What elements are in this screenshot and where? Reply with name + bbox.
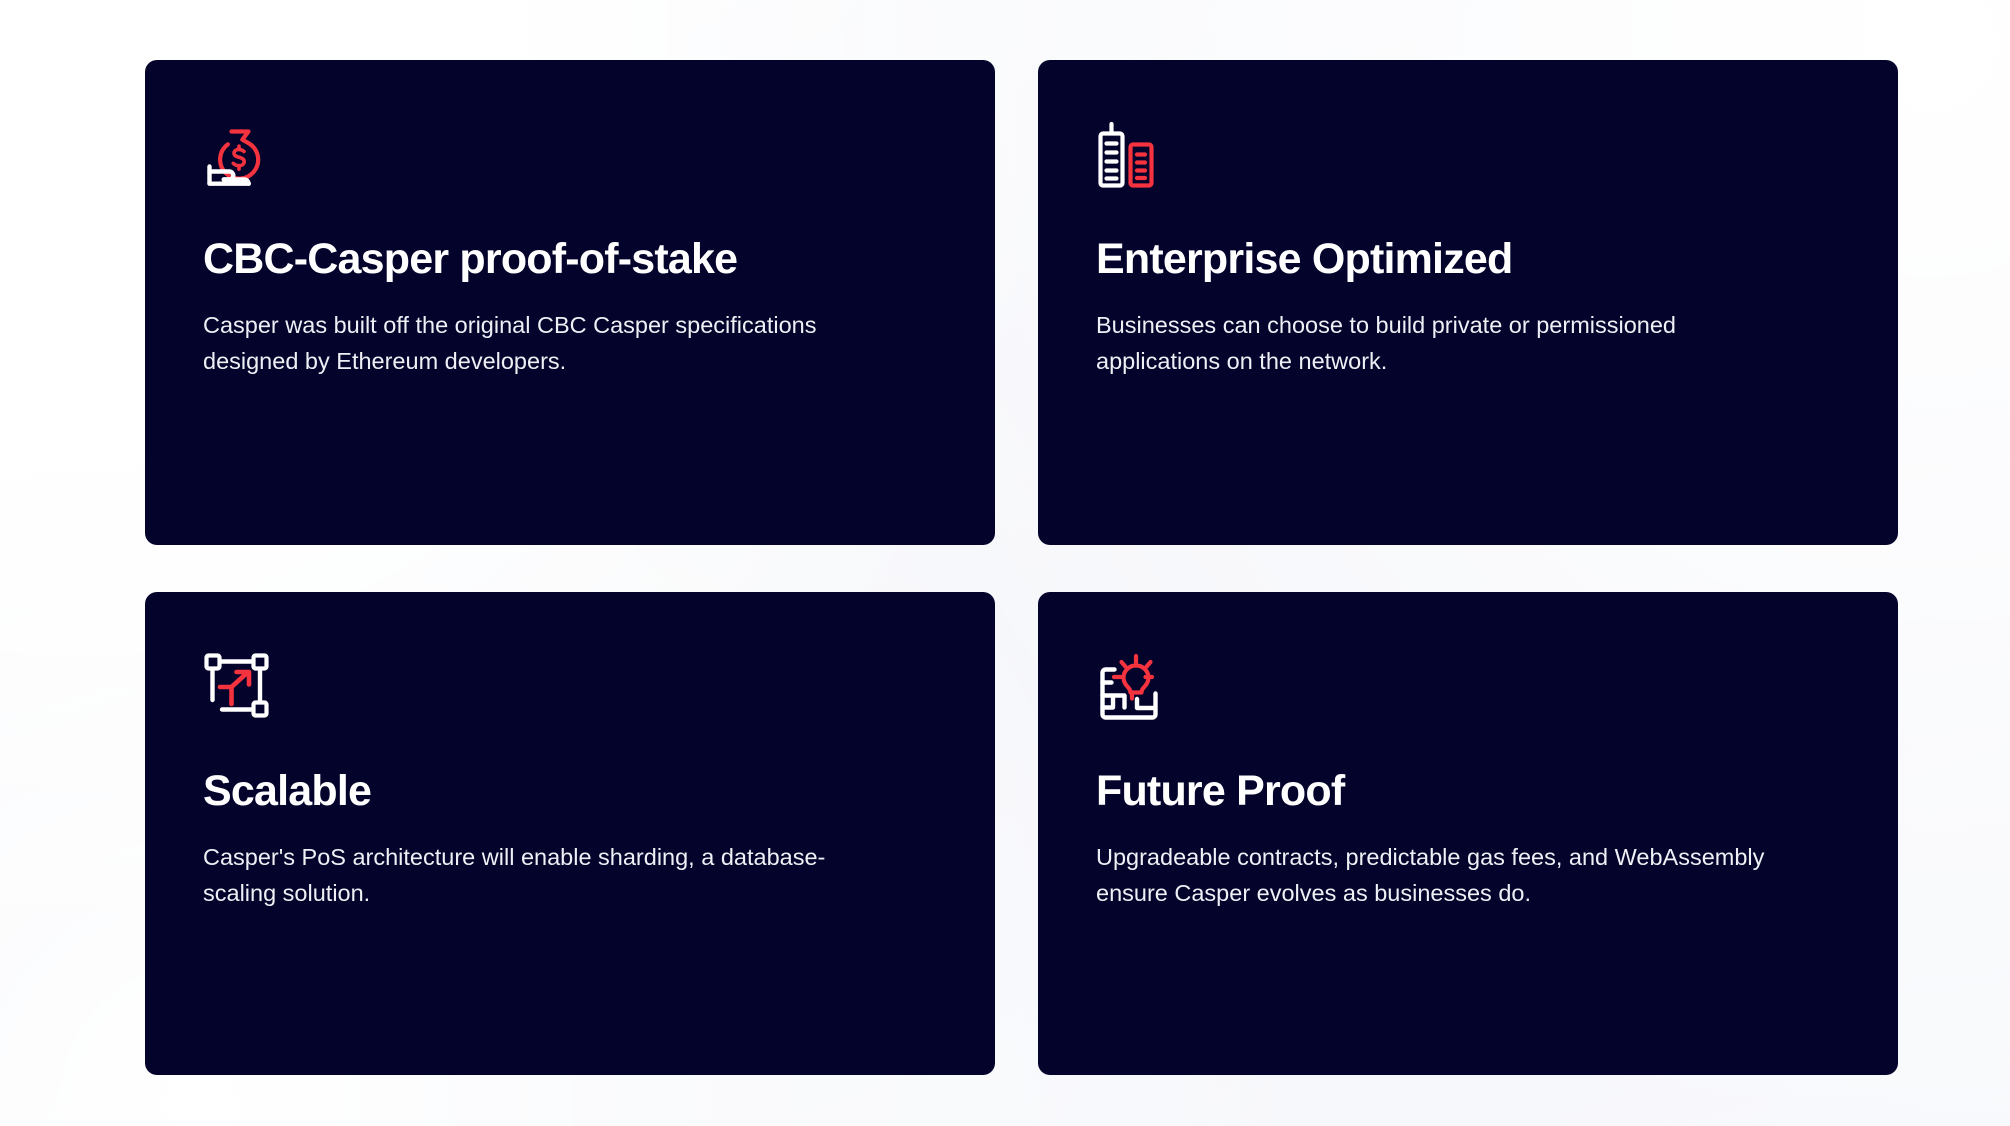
card-description: Businesses can choose to build private o… xyxy=(1096,308,1796,379)
card-description: Upgradeable contracts, predictable gas f… xyxy=(1096,840,1796,911)
feature-card-grid: CBC-Casper proof-of-stake Casper was bui… xyxy=(145,60,1898,1075)
card-description: Casper was built off the original CBC Ca… xyxy=(203,308,883,379)
card-title: Scalable xyxy=(203,768,937,814)
feature-card-scalable[interactable]: Scalable Casper's PoS architecture will … xyxy=(145,592,995,1075)
feature-card-enterprise-optimized[interactable]: Enterprise Optimized Businesses can choo… xyxy=(1038,60,1898,545)
feature-card-future-proof[interactable]: Future Proof Upgradeable contracts, pred… xyxy=(1038,592,1898,1075)
card-title: Future Proof xyxy=(1096,768,1840,814)
lightbulb-circuit-icon xyxy=(1096,652,1170,726)
card-title: Enterprise Optimized xyxy=(1096,236,1840,282)
feature-card-cbc-casper-proof-of-stake[interactable]: CBC-Casper proof-of-stake Casper was bui… xyxy=(145,60,995,545)
money-bag-icon xyxy=(203,120,277,194)
card-description: Casper's PoS architecture will enable sh… xyxy=(203,840,883,911)
scale-resize-arrow-icon xyxy=(203,652,277,726)
office-buildings-icon xyxy=(1096,120,1170,194)
card-title: CBC-Casper proof-of-stake xyxy=(203,236,937,282)
